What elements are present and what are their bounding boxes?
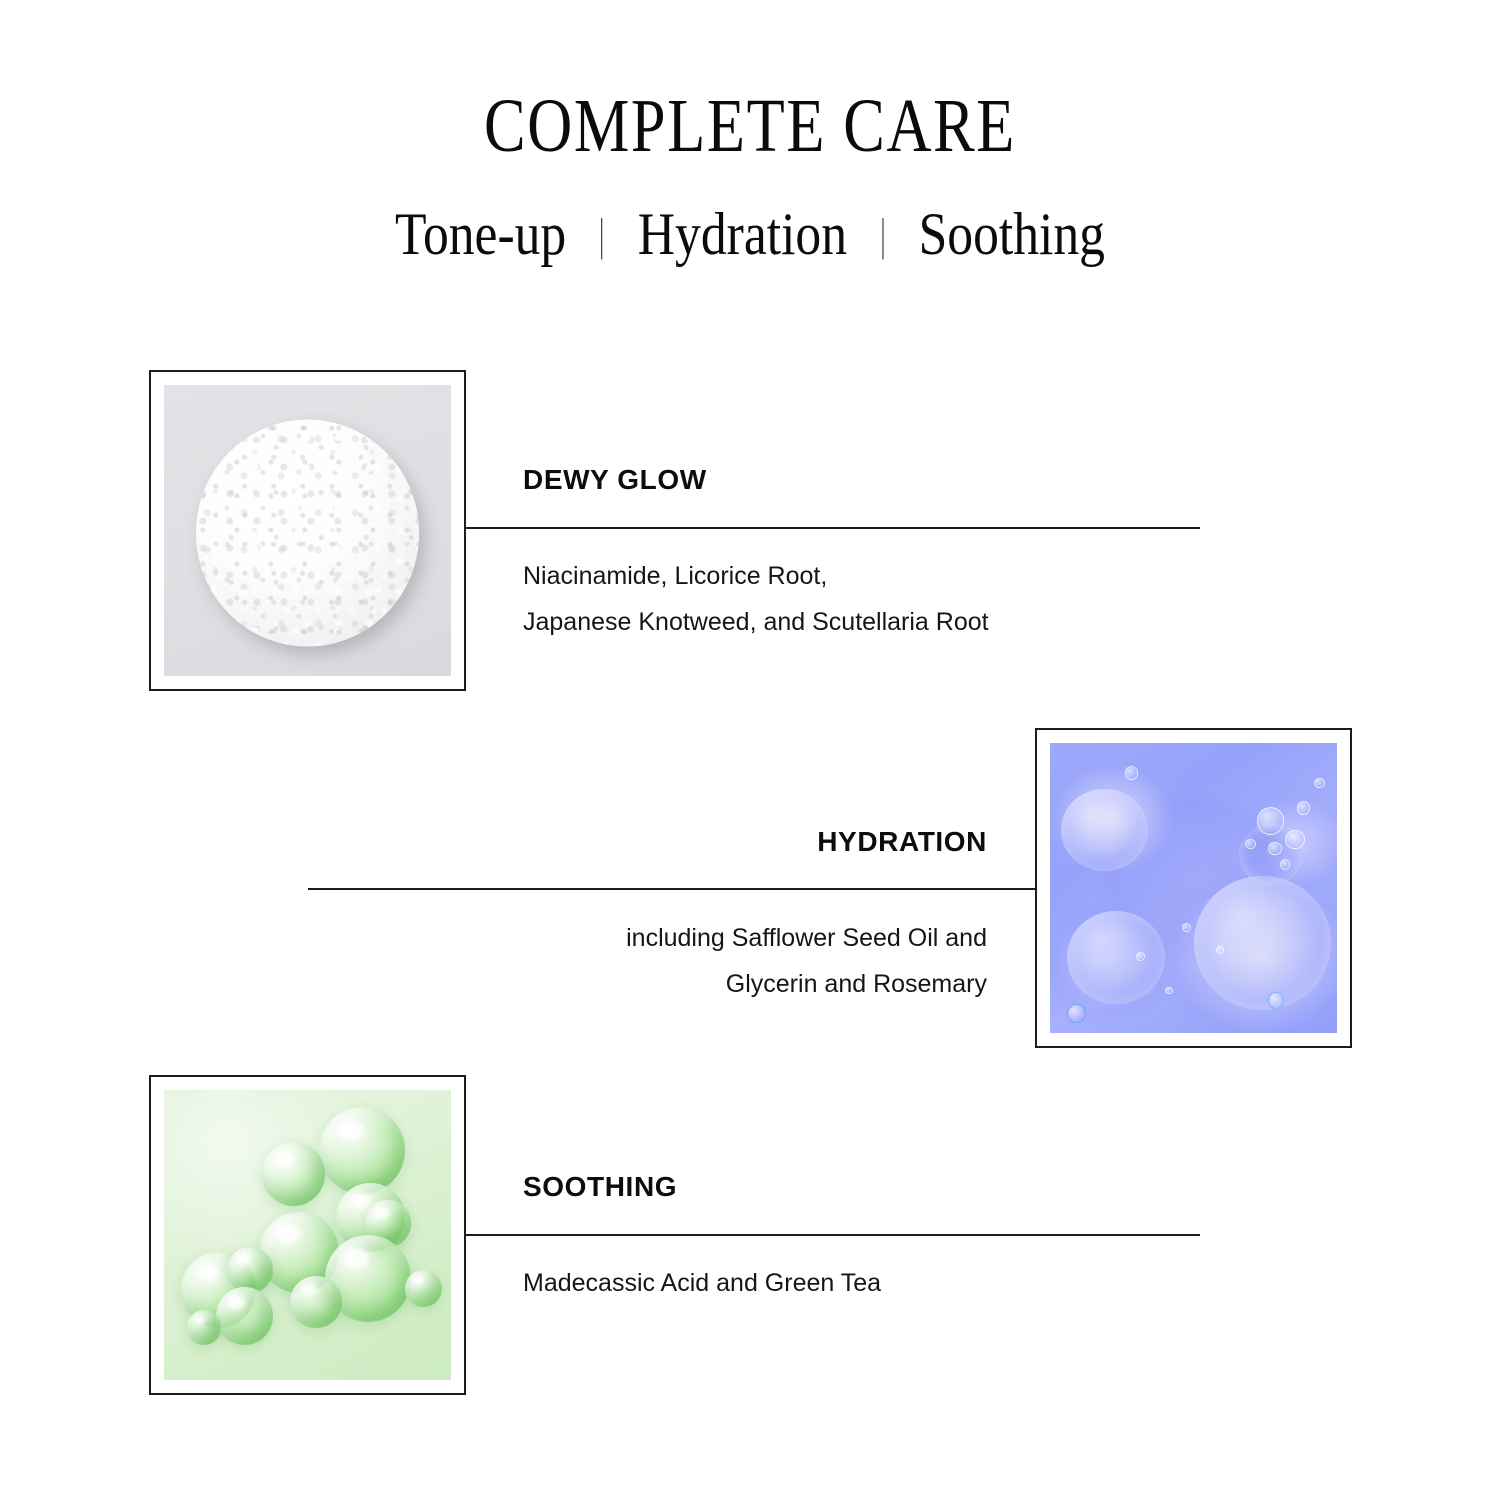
bubble-shape [1268, 842, 1281, 856]
dewy-glow-image-frame [149, 370, 466, 691]
green-sphere-shape [319, 1107, 405, 1194]
hydration-body-line-2: Glycerin and Rosemary [726, 970, 987, 998]
soothing-block: SOOTHING Madecassic Acid and Green Tea [465, 1173, 1200, 1307]
fluid-cell-shape [1061, 789, 1147, 870]
green-sphere-shape [227, 1247, 273, 1293]
header: COMPLETE CARE Tone-up | Hydration | Soot… [0, 0, 1500, 264]
bubble-shape [1245, 839, 1256, 850]
hydration-title: HYDRATION [308, 828, 1035, 856]
blue-fluid-bubbles-photo [1050, 743, 1337, 1033]
bubble-shape [1297, 801, 1310, 815]
subtitle-item-hydration: Hydration [638, 204, 847, 264]
soothing-body-line-1: Madecassic Acid and Green Tea [523, 1269, 881, 1297]
bubble-shape [1280, 859, 1291, 870]
page-title: COMPLETE CARE [135, 0, 1365, 164]
powder-grain-texture [196, 420, 420, 647]
green-sphere-shape [290, 1276, 342, 1328]
bubble-shape [1285, 830, 1304, 849]
hydration-body-line-1: including Safflower Seed Oil and [626, 924, 987, 952]
green-sphere-shape [405, 1270, 442, 1308]
soothing-body: Madecassic Acid and Green Tea [465, 1236, 1200, 1307]
subtitle-separator-icon: | [871, 212, 894, 258]
fluid-cell-shape [1067, 911, 1165, 1004]
bubble-shape [1257, 807, 1285, 835]
subtitle-item-soothing: Soothing [919, 204, 1105, 264]
dewy-glow-title: DEWY GLOW [465, 466, 1200, 494]
hydration-block: HYDRATION including Safflower Seed Oil a… [308, 828, 1035, 1007]
green-glass-spheres-photo [164, 1090, 451, 1380]
soothing-image-frame [149, 1075, 466, 1395]
bubble-shape [1125, 766, 1138, 780]
dewy-glow-block: DEWY GLOW Niacinamide, Licorice Root, Ja… [465, 466, 1200, 645]
subtitle-separator-icon: | [591, 212, 614, 258]
bubble-shape [1182, 923, 1191, 932]
dewy-glow-body-line-1: Niacinamide, Licorice Root, [523, 562, 827, 590]
subtitle-row: Tone-up | Hydration | Soothing [105, 164, 1395, 264]
subtitle-item-tone-up: Tone-up [395, 204, 566, 264]
white-powder-mound-photo [164, 385, 451, 676]
hydration-image-frame [1035, 728, 1352, 1048]
hydration-body: including Safflower Seed Oil and Glyceri… [308, 890, 1035, 1007]
fluid-cell-shape [1194, 876, 1332, 1009]
bubble-shape [1067, 1004, 1086, 1023]
dewy-glow-body-line-2: Japanese Knotweed, and Scutellaria Root [523, 608, 989, 636]
green-sphere-shape [187, 1310, 221, 1345]
soothing-title: SOOTHING [465, 1173, 1200, 1201]
bubble-shape [1314, 778, 1325, 789]
dewy-glow-body: Niacinamide, Licorice Root, Japanese Kno… [465, 529, 1200, 645]
green-sphere-shape [216, 1287, 273, 1345]
bubble-shape [1165, 987, 1173, 995]
green-sphere-shape [262, 1142, 325, 1206]
bubble-shape [1216, 946, 1224, 954]
